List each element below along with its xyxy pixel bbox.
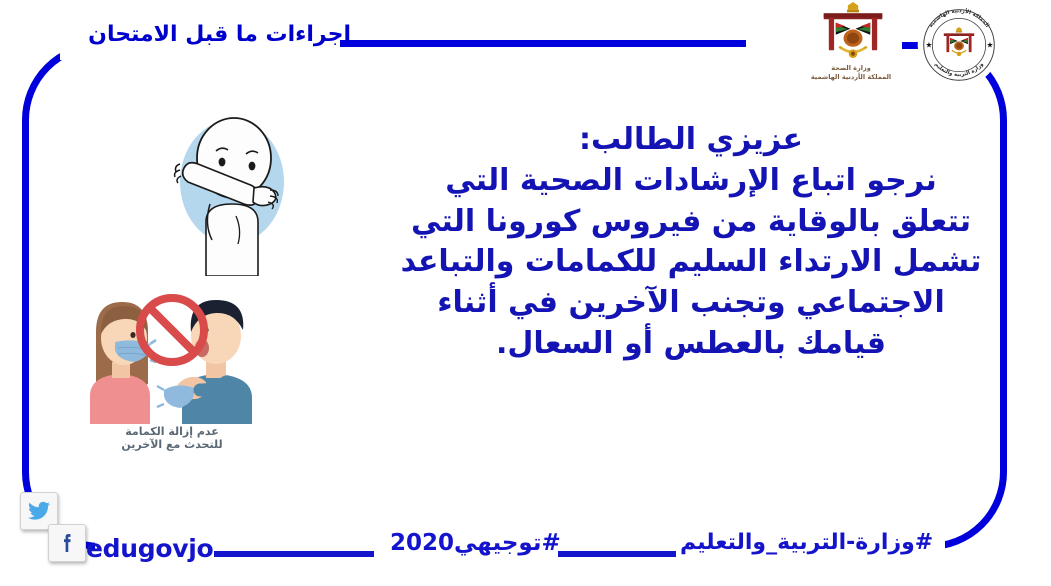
moh-caption-line-1: وزارة الصحة (803, 64, 899, 73)
page-title: إجراءات ما قبل الامتحان (88, 22, 351, 47)
svg-text:★: ★ (925, 41, 932, 50)
footer-divider-rule-1 (214, 551, 374, 557)
hashtag-ministry-of-education[interactable]: #وزارة-التربية_والتعليم (680, 530, 933, 555)
footer-divider-rule-2 (558, 551, 676, 557)
no-mask-removal-illustration: عدم إزالة الكمامة للتحدث مع الآخرين (60, 278, 284, 454)
svg-text:★: ★ (987, 41, 994, 50)
ministry-of-health-caption: وزارة الصحة المملكة الأردنية الهاشمية (803, 64, 899, 83)
message-line-4: تشمل الارتداء السليم للكمامات والتباعد (371, 242, 1011, 283)
ministry-of-health-logo: وزارة الصحة المملكة الأردنية الهاشمية (803, 2, 899, 83)
caption-line-1: عدم إزالة الكمامة (60, 425, 284, 439)
main-message: عزيزي الطالب: نرجو اتباع الإرشادات الصحي… (371, 120, 1011, 365)
moh-caption-line-2: المملكة الأردنية الهاشمية (803, 73, 899, 82)
social-handle[interactable]: edugovjo (86, 534, 213, 563)
message-line-1: عزيزي الطالب: (371, 120, 1011, 161)
sneeze-into-elbow-illustration (158, 104, 306, 276)
ministry-of-education-logo: المملكة الأردنية الهاشمية وزارة التربية … (907, 2, 1011, 88)
caption-line-2: للتحدث مع الآخرين (60, 438, 284, 452)
ministry-of-education-seal-icon: المملكة الأردنية الهاشمية وزارة التربية … (916, 2, 1002, 88)
illustration-caption: عدم إزالة الكمامة للتحدث مع الآخرين (60, 425, 284, 453)
hashtag-tawjihi-2020[interactable]: #توجيهي2020 (390, 530, 561, 556)
facebook-link[interactable] (48, 524, 86, 562)
poster-root: إجراءات ما قبل الامتحان (0, 0, 1051, 586)
facebook-f-icon[interactable] (48, 524, 86, 562)
message-line-2: نرجو اتباع الإرشادات الصحية التي (371, 161, 1011, 202)
message-line-5: الاجتماعي وتجنب الآخرين في أثناء (371, 283, 1011, 324)
message-line-3: تتعلق بالوقاية من فيروس كورونا التي (371, 202, 1011, 243)
message-line-6: قيامك بالعطس أو السعال. (371, 324, 1011, 365)
jordan-coat-of-arms-icon (803, 2, 899, 64)
ministry-logos: وزارة الصحة المملكة الأردنية الهاشمية ال… (803, 2, 1011, 88)
header-divider-rule (340, 40, 746, 47)
